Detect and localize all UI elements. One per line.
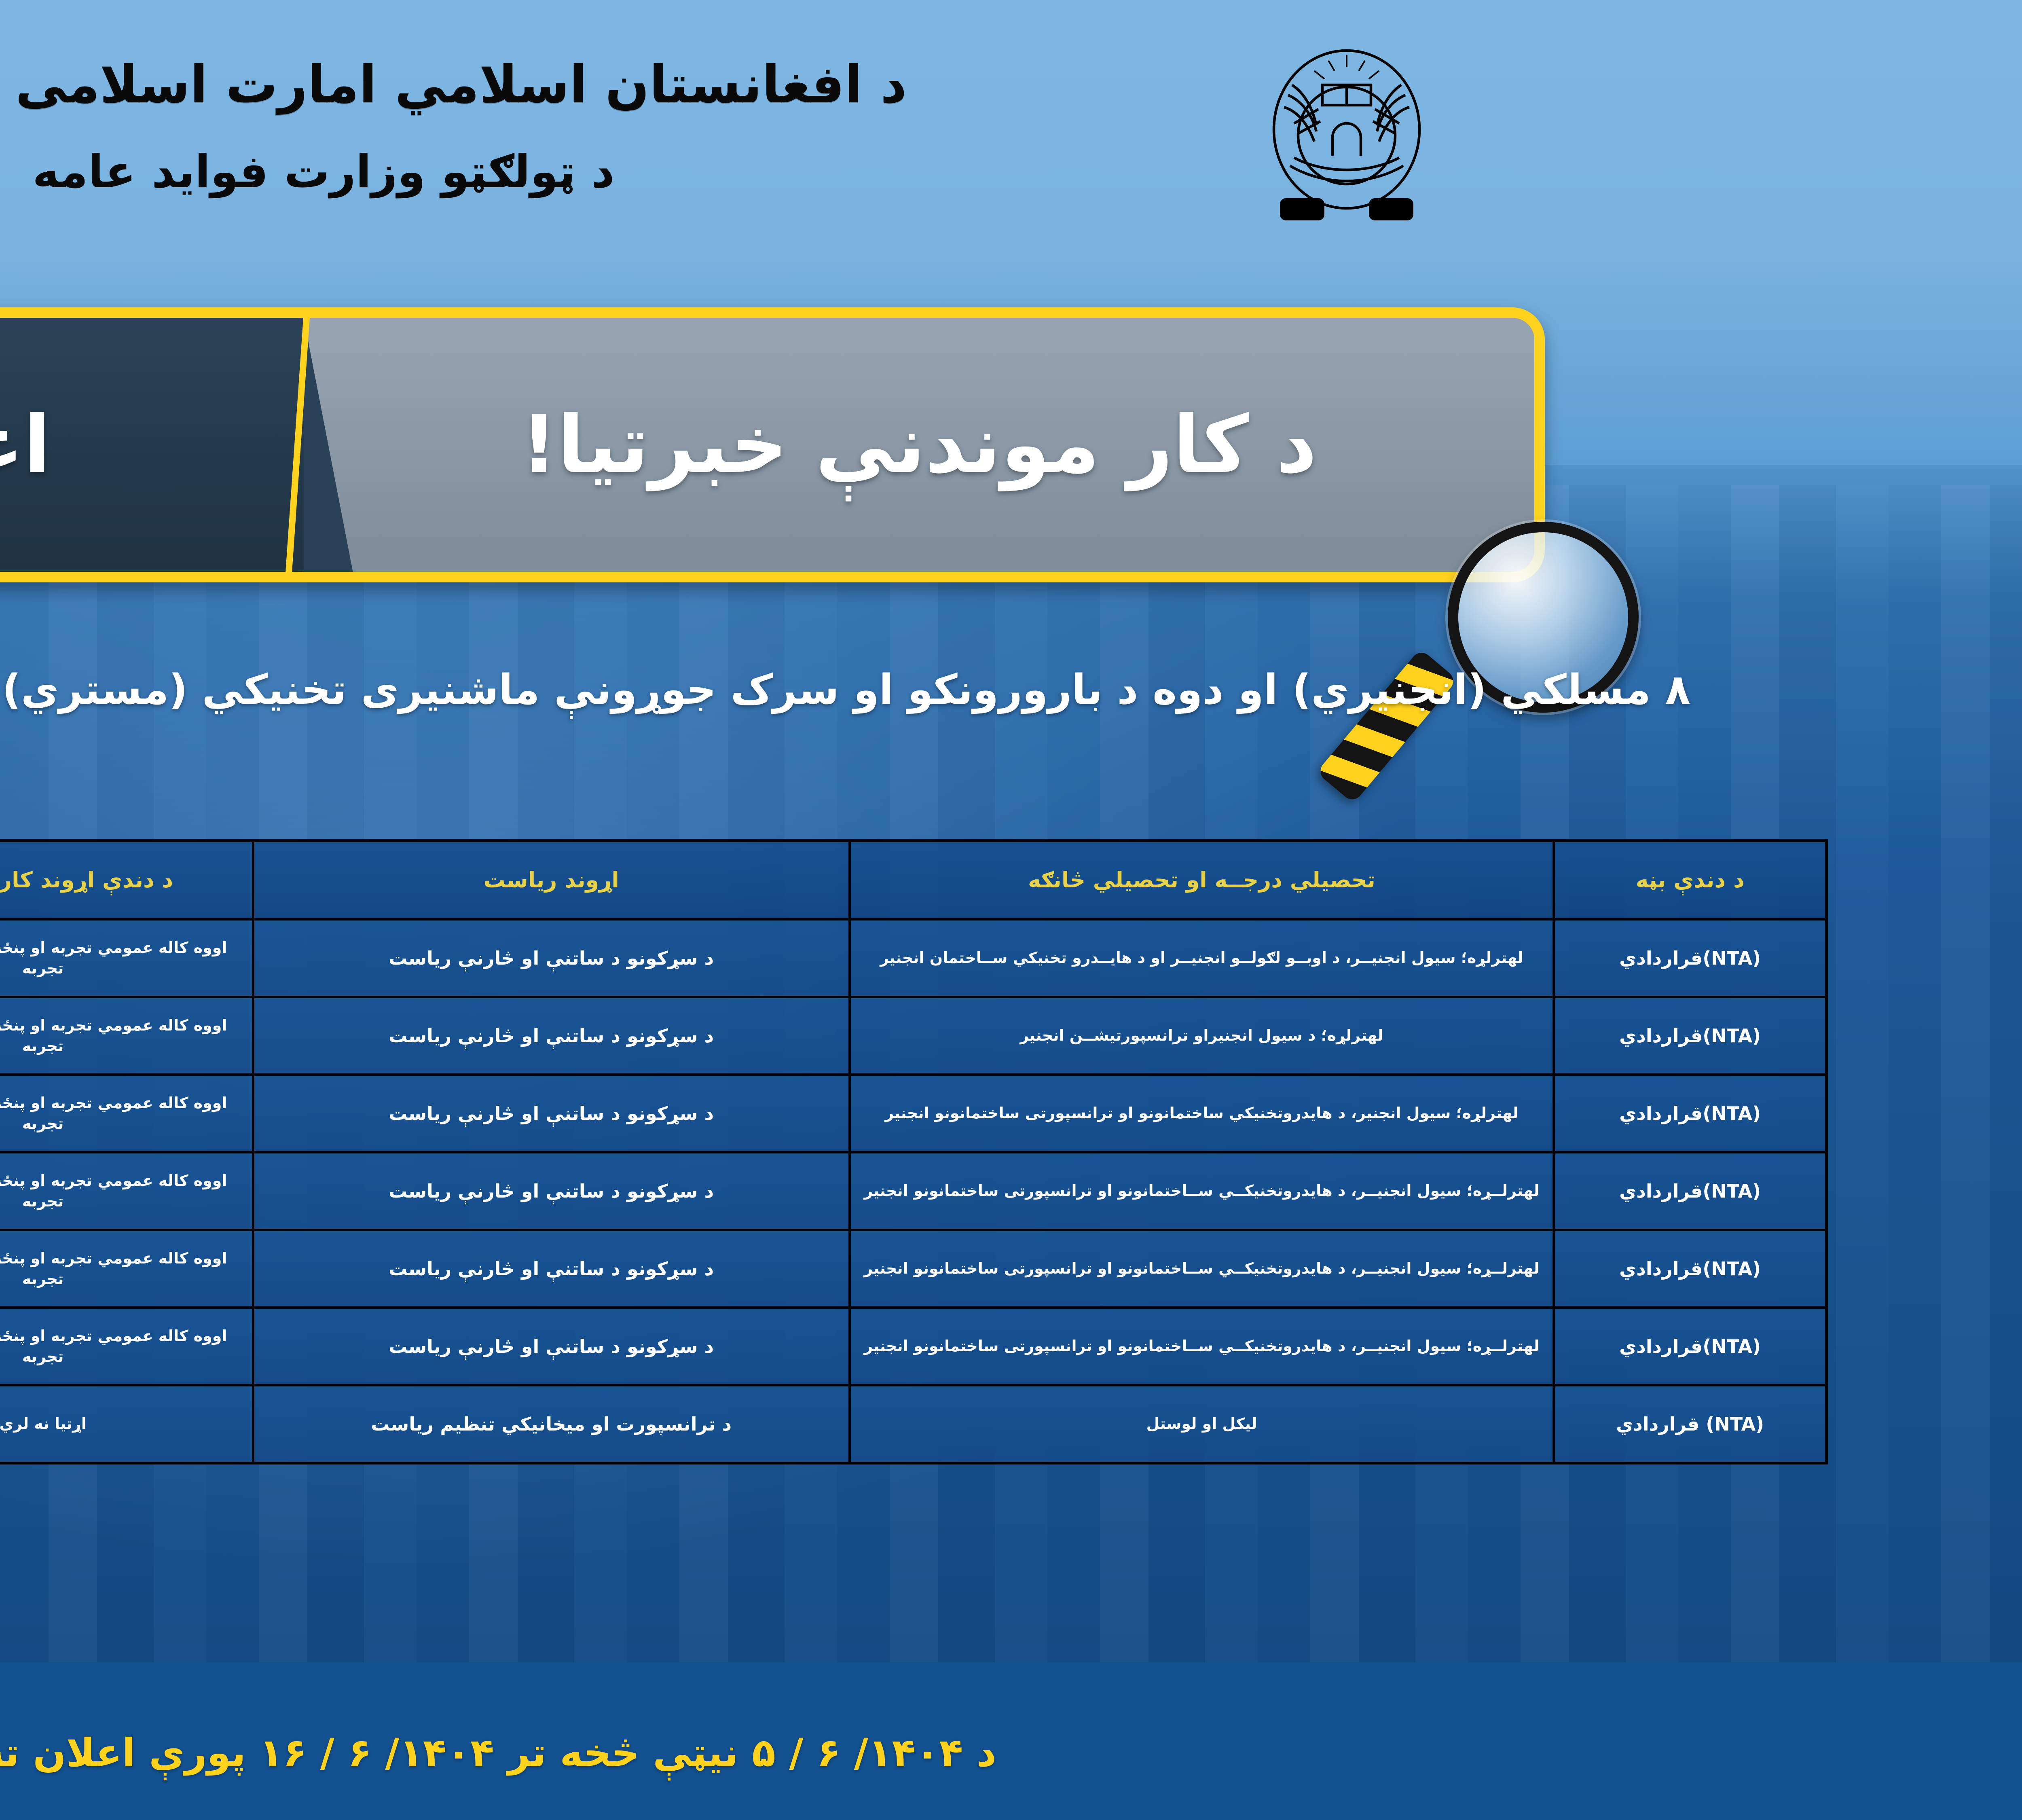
announcement-banner: د کار موندنې خبرتیا! اعلان کاریابی! xyxy=(0,307,1545,582)
table-row: (NTA)قرارداديلهترلــړه؛ سیول انجنیــر، د… xyxy=(0,1308,1827,1385)
cell-job-type: (NTA) قراردادي xyxy=(1554,1385,1826,1463)
banner-pane-dari: اعلان کاریابی! xyxy=(0,318,304,572)
cell-education: لهترلړه؛ د سیول انجنیراو ترانسپورتیشــن … xyxy=(850,997,1554,1075)
cell-education: لهترلــړه؛ سیول انجنیــر، د هایدروتخنیکـ… xyxy=(850,1230,1554,1308)
cell-department: د سړکونو د ساتنې او څارنې ریاست xyxy=(253,997,850,1075)
cell-job-type: (NTA)قراردادي xyxy=(1554,1152,1826,1230)
banner-title-dari: اعلان کاریابی! xyxy=(0,399,51,491)
poster-footer: د ۱۴۰۴/ ۶ / ۵ نیټې څخه تر ۱۴۰۴/ ۶ / ۱۶ پ… xyxy=(0,1662,2022,1820)
cell-department: د سړکونو د ساتنې او څارنې ریاست xyxy=(253,919,850,997)
col-header-experience: د دندې اړوند کاري تجربه xyxy=(0,841,253,920)
cell-job-type: (NTA)قراردادي xyxy=(1554,997,1826,1075)
cell-education: لهترلړه؛ سیول انجنیــر، د اوبــو لګولــو… xyxy=(850,919,1554,997)
table-row: (NTA)قرارداديلهترلــړه؛ سیول انجنیــر، د… xyxy=(0,1152,1827,1230)
col-header-education: تحصیلي درجــه او تحصیلي څانګه xyxy=(850,841,1554,920)
cell-experience: اووه کاله عمومي تجربه او پنځه کاله د دند… xyxy=(0,997,253,1075)
cell-experience: اووه کاله عمومي تجربه او پنځه کاله د دند… xyxy=(0,1152,253,1230)
table-body: (NTA)قرارداديلهترلړه؛ سیول انجنیــر، د ا… xyxy=(0,919,1827,1463)
vacancies-table: د دندې بڼه تحصیلي درجــه او تحصیلي څانګه… xyxy=(0,839,1828,1464)
banner-pane-pashto: د کار موندنې خبرتیا! xyxy=(304,318,1534,572)
cell-job-type: (NTA)قراردادي xyxy=(1554,1230,1826,1308)
ministry-title: د افغانستان اسلامي امارت اسلامی افغانستا… xyxy=(0,53,1193,117)
cell-experience: اووه کاله عمومي تجربه او پنځه کاله د دند… xyxy=(0,1075,253,1152)
ministry-subtitle: د ټولګټو وزارت فواید عامه xyxy=(0,146,1193,198)
banner-frame: د کار موندنې خبرتیا! اعلان کاریابی! xyxy=(0,307,1545,582)
cell-department: د سړکونو د ساتنې او څارنې ریاست xyxy=(253,1075,850,1152)
cell-job-type: (NTA)قراردادي xyxy=(1554,1075,1826,1152)
cell-department: د ترانسپورت او میخانیکي تنظیم ریاست xyxy=(253,1385,850,1463)
cell-education: لیکل او لوستل xyxy=(850,1385,1554,1463)
cell-department: د سړکونو د ساتنې او څارنې ریاست xyxy=(253,1230,850,1308)
cell-experience: اړتیا نه لري xyxy=(0,1385,253,1463)
cell-department: د سړکونو د ساتنې او څارنې ریاست xyxy=(253,1308,850,1385)
cell-education: لهترلــړه؛ سیول انجنیــر، د هایدروتخنیکـ… xyxy=(850,1308,1554,1385)
cell-education: لهترلړه؛ سیول انجنیر، د هایدروتخنیکي ساخ… xyxy=(850,1075,1554,1152)
poster-header: د افغانستان اسلامي امارت ۱۳۱۲ 1933 Islam… xyxy=(0,24,2022,283)
col-header-job-type: د دندې بڼه xyxy=(1554,841,1826,920)
afghanistan-national-emblem xyxy=(1246,36,1448,239)
table-row: (NTA)قرارداديلهترلړه؛ سیول انجنیر، د های… xyxy=(0,1075,1827,1152)
table-header-row: د دندې بڼه تحصیلي درجــه او تحصیلي څانګه… xyxy=(0,841,1827,920)
cell-education: لهترلــړه؛ سیول انجنیــر، د هایدروتخنیکـ… xyxy=(850,1152,1554,1230)
cell-experience: اووه کاله عمومي تجربه او پنځه کاله د دند… xyxy=(0,919,253,997)
table-row: (NTA)قرارداديلهترلړه؛ د سیول انجنیراو تر… xyxy=(0,997,1827,1075)
subtitle-part-a: ۸ مسلکي (انجنیري) او دوه د بارورونکو او … xyxy=(0,666,1690,714)
cell-experience: اووه کاله عمومي تجربه او پنځه کاله د دند… xyxy=(0,1230,253,1308)
cell-department: د سړکونو د ساتنې او څارنې ریاست xyxy=(253,1152,850,1230)
cell-job-type: (NTA)قراردادي xyxy=(1554,919,1826,997)
cell-experience: اووه کاله عمومي تجربه او پنځه کاله د دند… xyxy=(0,1308,253,1385)
vacancy-subtitle: ۸ مسلکي (انجنیري) او دوه د بارورونکو او … xyxy=(0,663,1690,717)
table-row: (NTA)قرارداديلهترلړه؛ سیول انجنیــر، د ا… xyxy=(0,919,1827,997)
vacancies-table-container: د دندې بڼه تحصیلي درجــه او تحصیلي څانګه… xyxy=(0,839,1828,1464)
banner-title-pashto: د کار موندنې خبرتیا! xyxy=(521,399,1317,491)
col-header-department: اړوند ریاست xyxy=(253,841,850,920)
table-row: (NTA) قرارداديلیکل او لوستلد ترانسپورت ا… xyxy=(0,1385,1827,1463)
table-head: د دندې بڼه تحصیلي درجــه او تحصیلي څانګه… xyxy=(0,841,1827,920)
table-row: (NTA)قرارداديلهترلــړه؛ سیول انجنیــر، د… xyxy=(0,1230,1827,1308)
application-deadline: د ۱۴۰۴/ ۶ / ۵ نیټې څخه تر ۱۴۰۴/ ۶ / ۱۶ پ… xyxy=(0,1730,1335,1776)
cell-job-type: (NTA)قراردادي xyxy=(1554,1308,1826,1385)
